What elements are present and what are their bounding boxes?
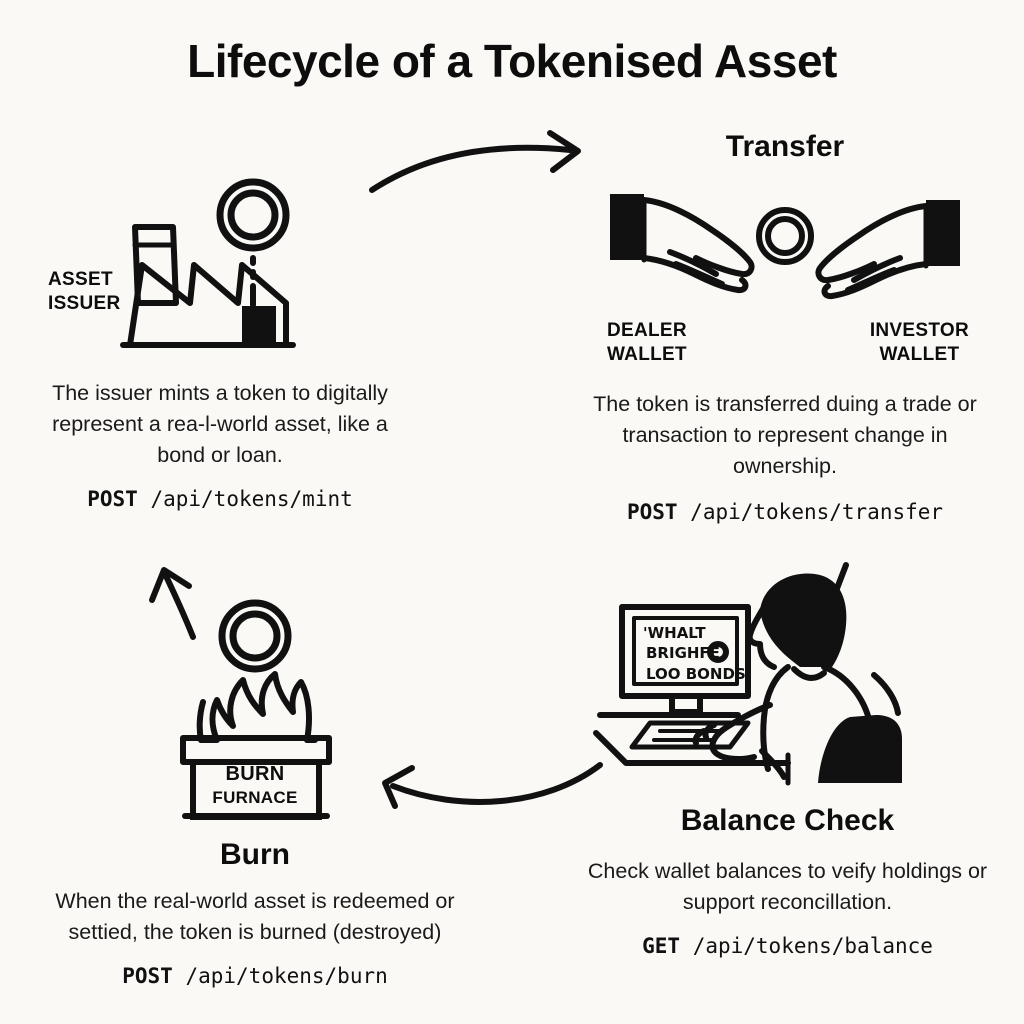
investor-wallet-label: INVESTOR WALLET <box>870 319 969 367</box>
dealer-wallet-label: DEALER WALLET <box>607 319 687 367</box>
transfer-api-verb: POST <box>627 500 678 524</box>
balance-check-description: Check wallet balances to veify holdings … <box>575 856 1000 918</box>
stage-balance-check: 'WHALT BRIGHFE LOO BONDS <box>575 555 1000 958</box>
screen-text-line-3: LOO BONDS <box>646 665 746 683</box>
diagram-canvas: Lifecycle of a Tokenised Asset <box>0 0 1024 1024</box>
page-title: Lifecycle of a Tokenised Asset <box>0 34 1024 88</box>
mint-api-path: /api/tokens/mint <box>150 487 352 511</box>
balance-api-verb: GET <box>642 934 680 958</box>
transfer-api-path: /api/tokens/transfer <box>690 500 943 524</box>
burn-furnace-label: BURN FURNACE <box>45 762 465 810</box>
transfer-heading: Transfer <box>575 130 995 164</box>
balance-api-endpoint: GET /api/tokens/balance <box>575 934 1000 958</box>
stage-burn: BURN FURNACE Burn When the real-world as… <box>45 590 465 988</box>
transfer-description: The token is transferred duing a trade o… <box>575 389 995 482</box>
screen-text-line-1: 'WHALT <box>643 624 706 642</box>
mint-api-verb: POST <box>87 487 138 511</box>
burn-api-path: /api/tokens/burn <box>185 964 387 988</box>
balance-check-desk-icon: 'WHALT BRIGHFE LOO BONDS <box>588 555 988 800</box>
balance-api-path: /api/tokens/balance <box>693 934 933 958</box>
mint-description: The issuer mints a token to digitally re… <box>30 378 410 471</box>
burn-description: When the real-world asset is redeemed or… <box>45 886 465 948</box>
stage-mint: ASSET ISSUER The issuer mints a token to… <box>30 175 410 511</box>
stage-transfer: Transfer DEALER WALLET <box>575 130 995 524</box>
burn-heading: Burn <box>45 838 465 872</box>
token-transfer-hands-icon <box>600 178 970 313</box>
wallet-labels-row: DEALER WALLET INVESTOR WALLET <box>575 313 995 367</box>
mint-api-endpoint: POST /api/tokens/mint <box>30 487 410 511</box>
burn-api-verb: POST <box>122 964 173 988</box>
transfer-api-endpoint: POST /api/tokens/transfer <box>575 500 995 524</box>
balance-check-heading: Balance Check <box>575 804 1000 838</box>
burn-api-endpoint: POST /api/tokens/burn <box>45 964 465 988</box>
